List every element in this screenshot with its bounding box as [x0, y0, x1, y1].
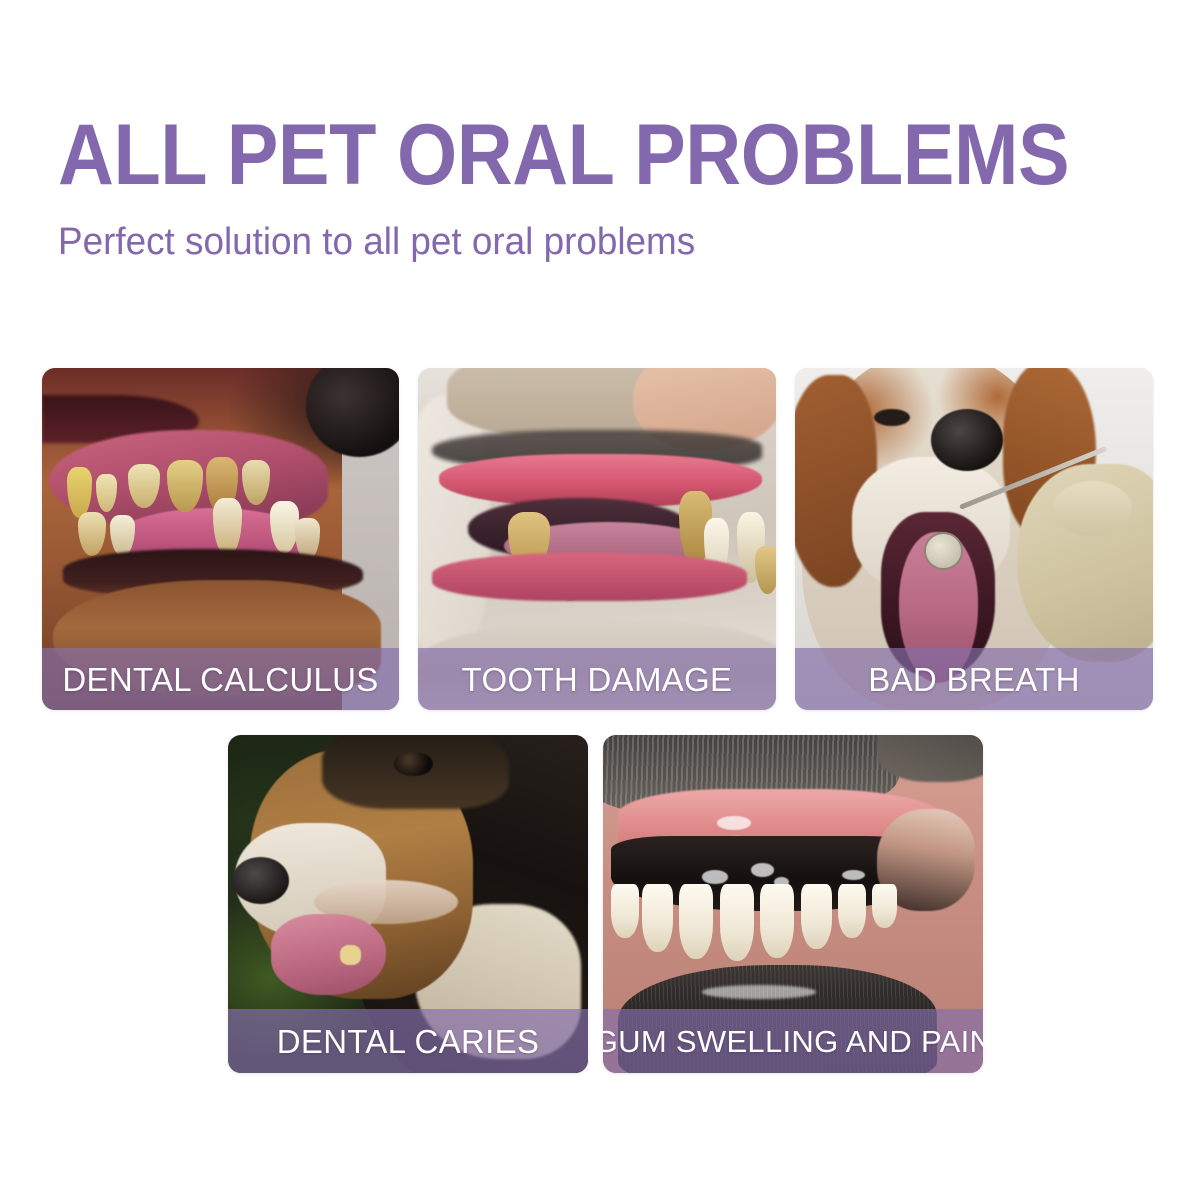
label-band-gum-swelling-and-pain: GUM SWELLING AND PAIN [603, 1009, 983, 1073]
card-tooth-damage[interactable]: TOOTH DAMAGE [418, 368, 776, 710]
card-dental-calculus[interactable]: DENTAL CALCULUS [42, 368, 399, 710]
card-gum-swelling-and-pain[interactable]: GUM SWELLING AND PAIN [603, 735, 983, 1073]
card-row-top: DENTAL CALCULUS [42, 368, 1153, 710]
infographic-page: ALL PET ORAL PROBLEMS Perfect solution t… [0, 0, 1200, 1200]
card-dental-caries[interactable]: DENTAL CARIES [228, 735, 588, 1073]
label-band-bad-breath: BAD BREATH [795, 648, 1153, 710]
card-row-bottom: DENTAL CARIES [228, 735, 983, 1073]
card-label-dental-calculus: DENTAL CALCULUS [62, 663, 378, 696]
label-band-tooth-damage: TOOTH DAMAGE [418, 648, 776, 710]
card-bad-breath[interactable]: BAD BREATH [795, 368, 1153, 710]
card-label-tooth-damage: TOOTH DAMAGE [462, 663, 733, 696]
header: ALL PET ORAL PROBLEMS Perfect solution t… [58, 112, 1158, 264]
page-title: ALL PET ORAL PROBLEMS [58, 112, 1048, 198]
card-label-dental-caries: DENTAL CARIES [277, 1025, 539, 1058]
page-subtitle: Perfect solution to all pet oral problem… [58, 220, 1125, 264]
card-label-gum-swelling-and-pain: GUM SWELLING AND PAIN [603, 1025, 983, 1058]
label-band-dental-caries: DENTAL CARIES [228, 1009, 588, 1073]
label-band-dental-calculus: DENTAL CALCULUS [42, 648, 399, 710]
card-label-bad-breath: BAD BREATH [868, 663, 1079, 696]
